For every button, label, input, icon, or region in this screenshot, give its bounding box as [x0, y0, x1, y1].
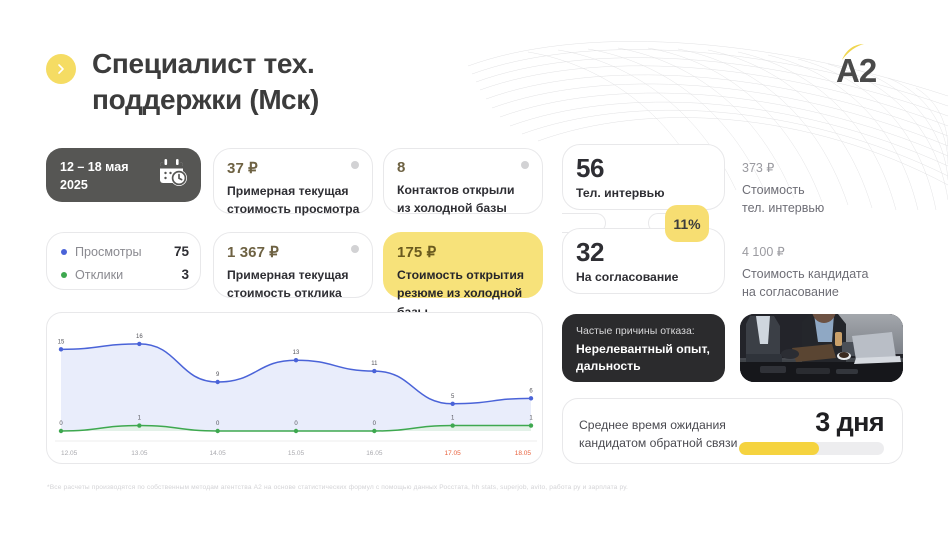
chevron-right-icon: [46, 54, 76, 84]
funnel-label: Тел. интервью: [576, 186, 714, 200]
metric-label: Контактов открыли из холодной базы: [397, 183, 515, 215]
logo-text: A2: [836, 52, 876, 90]
legend-value-responses: 3: [181, 267, 189, 282]
chart-point-label: 6: [529, 388, 533, 394]
rejection-title: Частые причины отказа:: [576, 325, 695, 337]
chart-x-tick-label: 13.05: [131, 450, 148, 457]
chart-x-tick-label: 15.05: [288, 450, 305, 457]
legend-dot-views: [61, 249, 67, 255]
cost-block-tel-interview: 373 ₽ Стоимость тел. интервью: [742, 160, 824, 218]
metric-value: 1 367 ₽: [227, 243, 362, 261]
chart-point[interactable]: [137, 342, 141, 346]
chart-point-label: 9: [216, 372, 220, 378]
chart-point-label: 16: [136, 334, 143, 340]
chart-point[interactable]: [294, 429, 298, 433]
chart-point[interactable]: [372, 369, 376, 373]
funnel-value: 56: [576, 153, 714, 184]
metric-label: Примерная текущая стоимость отклика: [227, 268, 349, 300]
chart-x-tick-label: 16.05: [366, 450, 383, 457]
team-photo: [740, 314, 903, 382]
chart-point[interactable]: [529, 423, 533, 427]
conversion-percent-badge: 11%: [665, 205, 709, 242]
metric-value: 175 ₽: [397, 243, 532, 261]
cost-label: Стоимость тел. интервью: [742, 182, 824, 218]
chart-point[interactable]: [59, 347, 63, 351]
date-range-text: 12 – 18 мая 2025: [60, 159, 129, 195]
wait-value: 3 дня: [815, 407, 884, 438]
chart-point-label: 13: [293, 350, 300, 356]
funnel-label: На согласование: [576, 270, 714, 284]
footnote: *Все расчеты производятся по собственным…: [47, 484, 907, 491]
chart-point[interactable]: [450, 423, 454, 427]
infographic-page: Специалист тех. поддержки (Мск) A2 12 – …: [0, 0, 948, 533]
legend-item-views: Просмотры 75: [61, 244, 189, 259]
cost-block-approval: 4 100 ₽ Стоимость кандидата на согласова…: [742, 244, 868, 302]
chart-x-tick-label: 12.05: [61, 450, 78, 457]
cost-value: 4 100 ₽: [742, 244, 868, 259]
metric-card-response-cost: 1 367 ₽ Примерная текущая стоимость откл…: [213, 232, 373, 298]
chart-x-tick-label: 18.05: [515, 450, 532, 457]
metric-value: 37 ₽: [227, 159, 362, 177]
chart-x-tick-label: 17.05: [445, 450, 462, 457]
wait-progress-bar: [739, 442, 884, 455]
metric-card-contacts-opened: 8 Контактов открыли из холодной базы: [383, 148, 543, 214]
chart-point[interactable]: [450, 402, 454, 406]
metric-value: 8: [397, 159, 532, 176]
chart-point-label: 11: [371, 361, 378, 367]
rejection-reasons-card: Частые причины отказа: Нерелевантный опы…: [562, 314, 725, 382]
rejection-body: Нерелевантный опыт, дальность: [576, 341, 715, 375]
metric-label: Примерная текущая стоимость просмотра: [227, 184, 359, 216]
chart-point-label: 15: [58, 339, 65, 345]
average-wait-time-card: Среднее время ожидания кандидатом обратн…: [562, 398, 903, 464]
line-chart: 15169131156010001112.0513.0514.0515.0516…: [47, 313, 542, 463]
legend-label-responses: Отклики: [75, 268, 123, 282]
chart-point[interactable]: [59, 429, 63, 433]
wait-label: Среднее время ожидания кандидатом обратн…: [579, 417, 737, 452]
page-header: Специалист тех. поддержки (Мск): [46, 46, 319, 118]
metric-card-view-cost: 37 ₽ Примерная текущая стоимость просмот…: [213, 148, 373, 214]
funnel-card-tel-interview: 56 Тел. интервью: [562, 144, 725, 210]
chart-point-label: 1: [529, 416, 533, 422]
series-legend-card: Просмотры 75 Отклики 3: [46, 232, 201, 290]
metric-card-cold-resume-cost: 175 ₽ Стоимость открытия резюме из холод…: [383, 232, 543, 298]
legend-dot-responses: [61, 272, 67, 278]
calendar-clock-icon: [157, 157, 189, 189]
chart-x-tick-label: 14.05: [210, 450, 227, 457]
wait-progress-fill: [739, 442, 819, 455]
legend-item-responses: Отклики 3: [61, 267, 189, 282]
date-range-card: 12 – 18 мая 2025: [46, 148, 201, 202]
chart-point[interactable]: [294, 358, 298, 362]
activity-line-chart-card: 15169131156010001112.0513.0514.0515.0516…: [46, 312, 543, 464]
legend-label-views: Просмотры: [75, 245, 142, 259]
chart-point[interactable]: [215, 429, 219, 433]
chart-point[interactable]: [529, 396, 533, 400]
chart-area-Просмотры: [61, 344, 531, 431]
page-title: Специалист тех. поддержки (Мск): [92, 46, 319, 118]
chart-point[interactable]: [137, 423, 141, 427]
legend-value-views: 75: [174, 244, 189, 259]
chart-point[interactable]: [372, 429, 376, 433]
chart-point-label: 5: [451, 394, 455, 400]
a2-logo: A2: [834, 42, 904, 90]
cost-label: Стоимость кандидата на согласование: [742, 266, 868, 302]
cost-value: 373 ₽: [742, 160, 824, 175]
chart-point[interactable]: [215, 380, 219, 384]
